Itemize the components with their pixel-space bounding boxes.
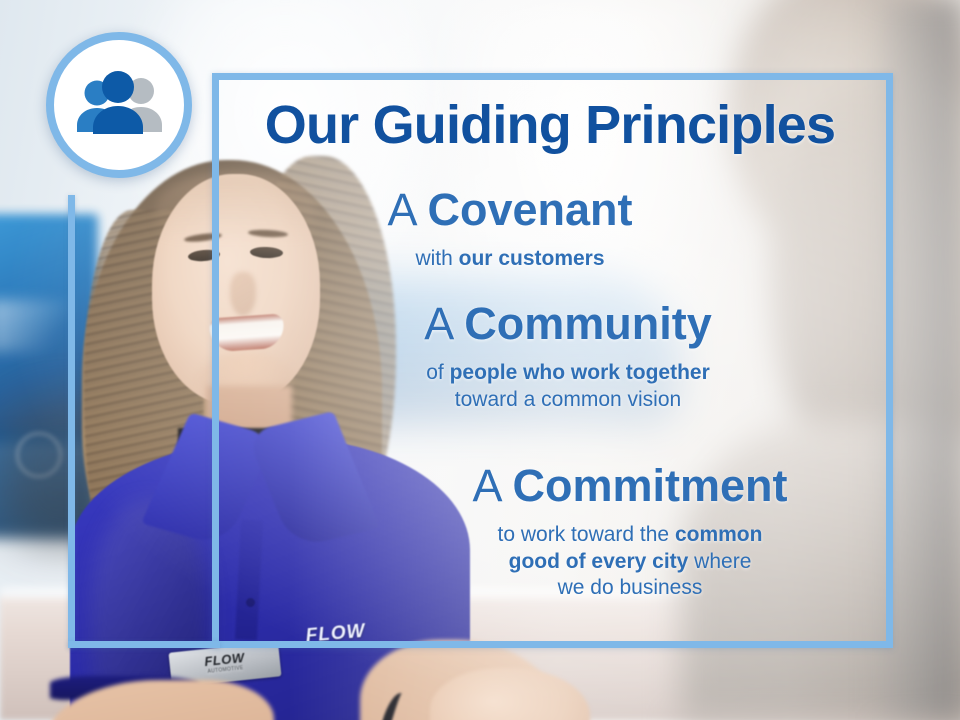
principle-subtext-commitment: to work toward the common good of every … <box>400 522 860 603</box>
principle-keyword: Covenant <box>428 184 633 235</box>
people-group-badge <box>46 32 192 178</box>
principle-heading-community: A Community <box>348 300 788 348</box>
principle-block-community: A Community of people who work together … <box>348 300 788 413</box>
principle-keyword: Commitment <box>513 460 788 511</box>
decorative-frame-left-bar <box>68 195 75 648</box>
principle-block-covenant: A Covenant with our customers <box>300 186 720 273</box>
principle-heading-covenant: A Covenant <box>300 186 720 234</box>
subtext-line: good of every city where <box>400 549 860 576</box>
subtext-part-bold: our customers <box>459 247 605 270</box>
principle-block-commitment: A Commitment to work toward the common g… <box>400 462 860 602</box>
subtext-part: where <box>688 550 751 573</box>
subtext-line: toward a common vision <box>348 387 788 414</box>
principle-keyword: Community <box>464 298 712 349</box>
subtext-line: we do business <box>400 575 860 602</box>
polo-button <box>246 598 255 607</box>
principle-heading-commitment: A Commitment <box>400 462 860 510</box>
principle-article: A <box>387 184 427 235</box>
subtext-part-bold: common <box>675 523 763 546</box>
guiding-principles-poster: FLOW FLOW AUTOMOTIVE <box>0 0 960 720</box>
subtext-line: of people who work together <box>348 360 788 387</box>
principle-article: A <box>424 298 464 349</box>
subtext-part: to work toward the <box>498 523 675 546</box>
subtext-line: to work toward the common <box>400 522 860 549</box>
nose <box>230 272 256 316</box>
page-title: Our Guiding Principles <box>214 94 886 156</box>
subtext-part: of <box>426 361 449 384</box>
principle-subtext-covenant: with our customers <box>300 246 720 273</box>
people-group-icon <box>71 68 167 142</box>
subtext-part: with <box>415 247 458 270</box>
principle-subtext-community: of people who work together toward a com… <box>348 360 788 414</box>
decorative-frame-bottom-bar <box>68 641 220 648</box>
forehead-shading <box>156 172 316 242</box>
subtext-part-bold: people who work together <box>450 361 710 384</box>
subtext-part-bold: good of every city <box>509 550 689 573</box>
principle-article: A <box>472 460 512 511</box>
chest-logo-text: FLOW <box>305 621 367 647</box>
